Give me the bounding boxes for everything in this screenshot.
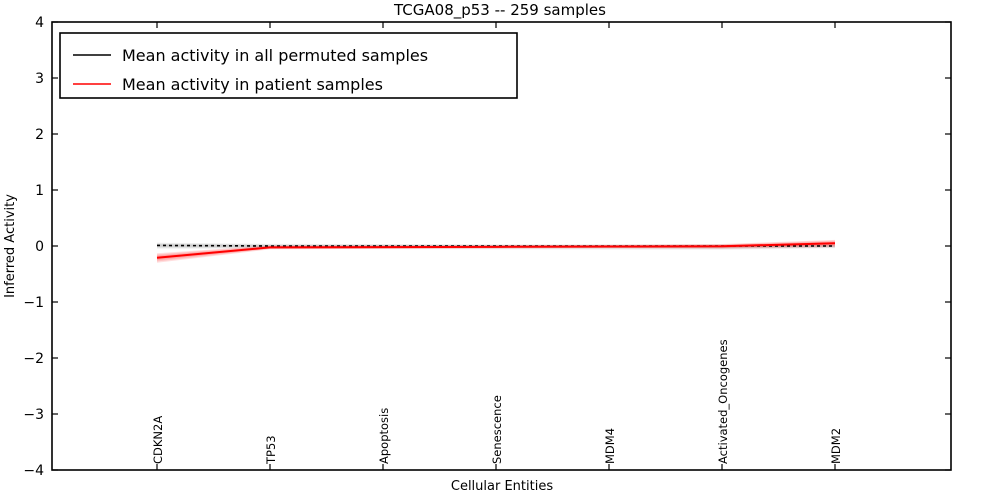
legend-label-permuted: Mean activity in all permuted samples bbox=[122, 46, 428, 65]
y-tick-label: 4 bbox=[35, 15, 44, 31]
x-category-label: MDM2 bbox=[829, 428, 843, 464]
x-category-label: Activated_Oncogenes bbox=[716, 339, 730, 464]
legend-label-patient: Mean activity in patient samples bbox=[122, 75, 383, 94]
x-category-label: Senescence bbox=[490, 395, 504, 464]
x-category-label: CDKN2A bbox=[151, 416, 165, 464]
chart-figure: TCGA08_p53 -- 259 samples Inferred Activ… bbox=[0, 0, 1000, 500]
x-category-label: MDM4 bbox=[603, 428, 617, 464]
y-tick-label: −1 bbox=[23, 295, 44, 311]
legend-entry-permuted: Mean activity in all permuted samples bbox=[73, 46, 428, 65]
y-tick-label: 2 bbox=[35, 127, 44, 143]
y-tick-label: 3 bbox=[35, 71, 44, 87]
chart-svg: TCGA08_p53 -- 259 samples Inferred Activ… bbox=[0, 0, 1000, 500]
x-category-label: TP53 bbox=[264, 435, 278, 465]
y-tick-label: −3 bbox=[23, 407, 44, 423]
y-tick-label: −4 bbox=[23, 463, 44, 479]
y-tick-label: 1 bbox=[35, 183, 44, 199]
legend: Mean activity in all permuted samples Me… bbox=[60, 33, 517, 98]
y-tick-label: 0 bbox=[35, 239, 44, 255]
x-axis-label: Cellular Entities bbox=[451, 479, 553, 494]
chart-title: TCGA08_p53 -- 259 samples bbox=[393, 1, 606, 20]
x-category-label: Apoptosis bbox=[377, 408, 391, 464]
y-tick-label: −2 bbox=[23, 351, 44, 367]
y-axis-label: Inferred Activity bbox=[3, 194, 18, 298]
